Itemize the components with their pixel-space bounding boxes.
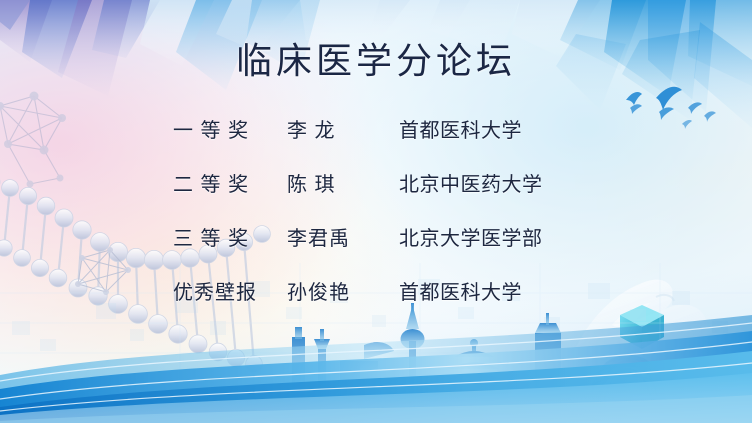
winner-name: 孙俊艳	[287, 276, 399, 305]
award-rank: 一 等 奖	[173, 114, 287, 143]
winner-name: 李君禹	[287, 222, 399, 251]
list-item: 三 等 奖 李君禹 北京大学医学部	[0, 222, 752, 276]
award-rank: 优秀壁报	[173, 276, 287, 305]
page-title: 临床医学分论坛	[0, 32, 752, 84]
winner-name: 陈 琪	[287, 168, 399, 197]
winner-name: 李 龙	[287, 114, 399, 143]
award-rank: 三 等 奖	[173, 222, 287, 251]
slide-content: 临床医学分论坛 一 等 奖 李 龙 首都医科大学 二 等 奖 陈 琪 北京中医药…	[0, 0, 752, 423]
affiliation: 北京中医药大学	[399, 168, 543, 197]
list-item: 优秀壁报 孙俊艳 首都医科大学	[0, 276, 752, 330]
affiliation: 首都医科大学	[399, 114, 522, 143]
affiliation: 首都医科大学	[399, 276, 522, 305]
slide-canvas: 临床医学分论坛 一 等 奖 李 龙 首都医科大学 二 等 奖 陈 琪 北京中医药…	[0, 0, 752, 423]
award-list: 一 等 奖 李 龙 首都医科大学 二 等 奖 陈 琪 北京中医药大学 三 等 奖…	[0, 114, 752, 330]
list-item: 一 等 奖 李 龙 首都医科大学	[0, 114, 752, 168]
list-item: 二 等 奖 陈 琪 北京中医药大学	[0, 168, 752, 222]
affiliation: 北京大学医学部	[399, 222, 543, 251]
award-rank: 二 等 奖	[173, 168, 287, 197]
